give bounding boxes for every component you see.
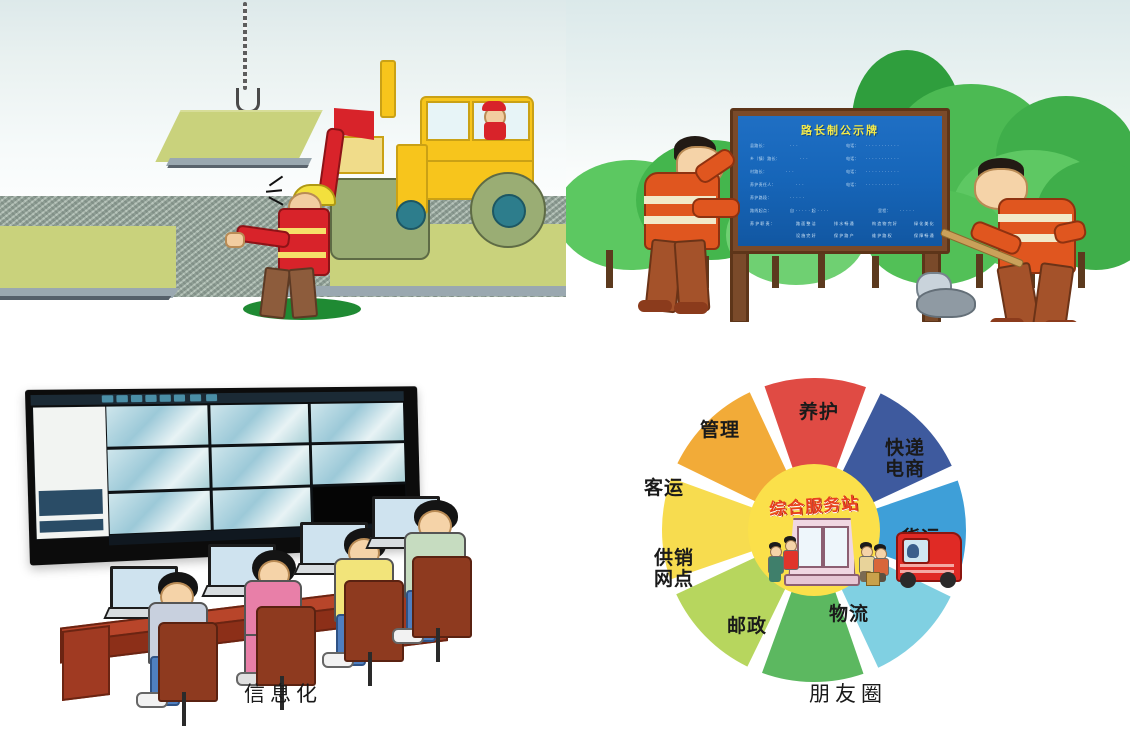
hanging-slab xyxy=(155,110,322,162)
cab-glass-left xyxy=(426,101,470,141)
sign-row-2-label2: 电话： xyxy=(846,169,859,175)
worker-right-stripe-1 xyxy=(998,214,1072,222)
panel-ze-ren-zhi: 路长制公示牌 县路长： · · · 电话： · · · · · · · · · … xyxy=(566,0,1130,322)
sign-row-0-label: 县路长： xyxy=(750,143,767,149)
sign-row-1-label: 乡（镇）路长： xyxy=(750,156,780,162)
sign-duty-r1-1: 排水畅通 xyxy=(834,221,855,227)
wheel-label-guanli[interactable]: 管理 xyxy=(690,420,750,441)
sign-row-4-label: 养护路段： xyxy=(750,195,772,201)
sign-duty-r1-0: 路面整洁 xyxy=(796,221,817,227)
mini-red-body xyxy=(783,550,799,570)
side-panel-matrix xyxy=(39,489,103,516)
cctv-cell-1[interactable] xyxy=(105,404,210,448)
sign-row-0-label2: 电话： xyxy=(846,143,859,149)
sign-row-1-label2: 电话： xyxy=(846,156,859,162)
station-window-right xyxy=(823,526,849,568)
wheel-label-yanghu[interactable]: 养护 xyxy=(784,402,854,423)
panel-caption-3: 信息化 xyxy=(0,678,566,708)
chair-2[interactable] xyxy=(256,606,316,686)
panel-caption-4: 朋友圈 xyxy=(566,678,1130,708)
driver-cap-icon xyxy=(482,101,506,111)
signboard-title: 路长制公示牌 xyxy=(738,122,942,138)
panel-xin-xi-hua: 信息化 xyxy=(0,366,566,733)
cctv-cell-2[interactable] xyxy=(210,403,310,446)
chair-4[interactable] xyxy=(412,556,472,638)
sign-row-5-label2: 里程： xyxy=(878,208,891,214)
roller-exhaust-pipe xyxy=(380,60,396,118)
sign-duty-r1-2: 构造物完好 xyxy=(872,221,898,227)
sign-row-2-value2: · · · · · · · · · · · xyxy=(866,169,899,174)
signboard-frame: 路长制公示牌 县路长： · · · 电话： · · · · · · · · · … xyxy=(730,108,950,254)
sign-row-3-value2: · · · · · · · · · · · xyxy=(866,182,899,187)
roller-drum-hub xyxy=(492,194,526,228)
toolbar-chip-7[interactable] xyxy=(190,394,201,401)
sign-row-5-value2: · · · · · xyxy=(900,208,914,213)
cctv-grid xyxy=(105,402,407,535)
cctv-cell-8[interactable] xyxy=(212,486,312,531)
toolbar-chip-3[interactable] xyxy=(131,395,143,402)
hanging-slab-shadow xyxy=(167,165,308,168)
sign-row-1-value2: · · · · · · · · · · · xyxy=(866,156,899,161)
road-slab-left xyxy=(0,226,176,288)
cctv-cell-5[interactable] xyxy=(211,445,311,489)
toolbar-chip-4[interactable] xyxy=(145,395,156,402)
worker-left-shoe-2 xyxy=(674,302,708,314)
station-base xyxy=(784,574,860,586)
road-slab-left-shadow xyxy=(0,296,171,300)
sign-row-3-label: 养护责任人： xyxy=(750,182,776,188)
sign-row-3-value: · · · xyxy=(796,182,804,187)
crane-chain xyxy=(243,2,247,90)
sign-duty-label: 养护职责： xyxy=(750,221,776,227)
chair-4-leg xyxy=(436,628,440,662)
mini-person-red xyxy=(781,536,799,572)
chair-3[interactable] xyxy=(344,580,404,662)
van-grille-1 xyxy=(900,564,954,567)
van-wheel-right xyxy=(940,572,956,588)
toolbar-chip-1[interactable] xyxy=(102,395,114,402)
toolbar-chip-2[interactable] xyxy=(116,395,128,402)
worker-right-shoe-1 xyxy=(990,318,1024,322)
sign-duty-r2-2: 维护路权 xyxy=(872,233,893,239)
mini-staff-legs xyxy=(769,571,781,582)
sign-duty-r2-0: 设施完好 xyxy=(796,233,817,239)
worker-right-shoe-2 xyxy=(1044,320,1078,322)
mini-luggage xyxy=(866,572,880,586)
cctv-cell-4[interactable] xyxy=(106,447,211,492)
van-driver xyxy=(907,544,919,558)
sign-duty-r2-1: 保护路产 xyxy=(834,233,855,239)
cctv-cell-7[interactable] xyxy=(108,489,212,535)
wheel-label-gongxiao[interactable]: 供销 网点 xyxy=(644,548,704,589)
sign-row-0-value2: · · · · · · · · · · · xyxy=(866,143,899,148)
signboard-face: 路长制公示牌 县路长： · · · 电话： · · · · · · · · · … xyxy=(738,116,942,246)
worker-leg-right xyxy=(288,267,318,319)
panel-peng-you-quan: 养护 快递 电商 货运 物流 邮政 供销 网点 客运 管理 综合服务站 xyxy=(566,366,1130,733)
sign-row-2-value: · · · xyxy=(786,169,794,174)
sign-row-3-label2: 电话： xyxy=(846,182,859,188)
sign-row-1-value: · · · xyxy=(800,156,808,161)
side-panel-controls xyxy=(40,519,104,533)
sign-row-0-value: · · · xyxy=(790,143,798,148)
panel-you-bao-zhang: 有保障 xyxy=(0,0,566,322)
station-window-left xyxy=(797,526,823,568)
sign-row-4-value: · · · · · xyxy=(790,195,804,200)
video-wall-side-panel[interactable] xyxy=(32,406,110,541)
poster-board: 有保障 路长制公示牌 县路长： xyxy=(0,0,1130,733)
toolbar-chip-6[interactable] xyxy=(174,394,185,401)
wheel-label-keyun[interactable]: 客运 xyxy=(634,478,694,499)
sign-duty-r2-3: 保障畅通 xyxy=(914,233,935,239)
worker-left-shoe-1 xyxy=(638,300,672,312)
wheel-label-wuliu[interactable]: 物流 xyxy=(820,604,878,625)
sign-duty-r1-3: 绿化美化 xyxy=(914,221,935,227)
sign-row-5-label: 路线起点： xyxy=(750,208,772,214)
cctv-cell-6[interactable] xyxy=(310,442,405,485)
driver-body xyxy=(484,122,506,140)
wheel-label-kuaidi[interactable]: 快递 电商 xyxy=(878,438,932,479)
worker-pointing-hand xyxy=(225,232,245,248)
worker-left-forearm xyxy=(692,198,740,218)
roller-arm-hub xyxy=(396,200,426,230)
wheel-label-youzheng[interactable]: 邮政 xyxy=(718,616,776,637)
cctv-cell-3[interactable] xyxy=(309,402,405,444)
van-wheel-left xyxy=(900,572,916,588)
toolbar-chip-5[interactable] xyxy=(160,395,171,402)
sign-row-2-label: 村路长： xyxy=(750,169,767,175)
sign-row-5-value: 自 · · · · · 起 · · · · xyxy=(790,208,828,214)
gravel-pile xyxy=(916,288,976,318)
toolbar-chip-8[interactable] xyxy=(206,394,217,401)
worker-coat-stripe-lower xyxy=(278,252,326,258)
